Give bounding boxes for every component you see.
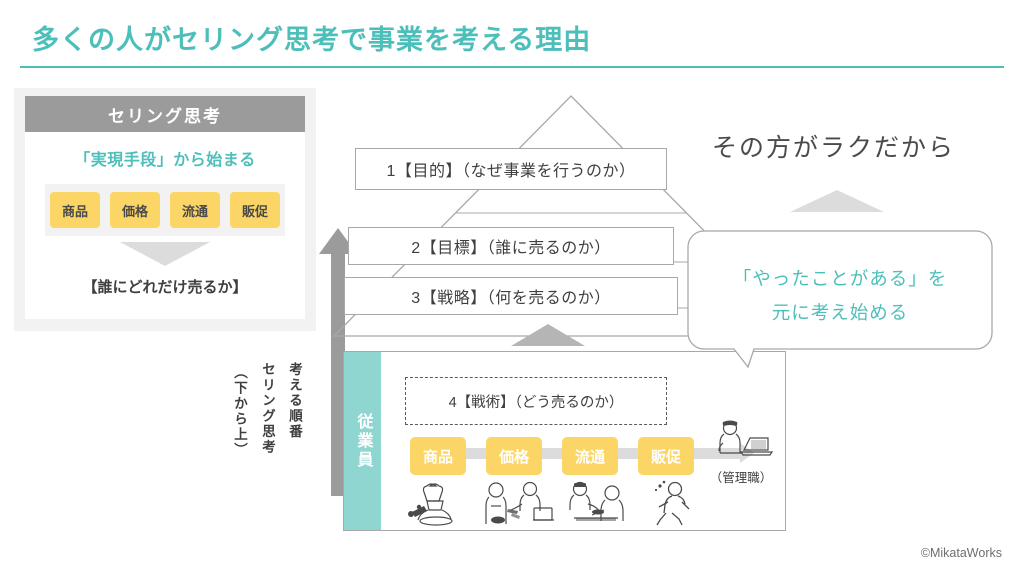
employee-band: 従業員 — [344, 352, 381, 530]
chip-price: 価格 — [110, 192, 160, 228]
employee-band-label: 従業員 — [351, 413, 375, 470]
selling-4p-chip-row: 商品 価格 流通 販促 — [45, 184, 285, 236]
selling-thinking-header: セリング思考 — [25, 96, 305, 132]
pyramid-level-strategy: 3【戦略】（何を売るのか） — [344, 277, 678, 315]
manager-group: （管理職） — [702, 420, 780, 486]
pyramid-level-goal: 2【目標】（誰に売るのか） — [348, 227, 674, 265]
up-arrow-icon — [790, 190, 884, 212]
employee-tactics-box: 従業員 4【戦術】（どう売るのか） 商品 価格 流通 販促 — [343, 351, 786, 531]
pyramid-level-purpose: 1【目的】（なぜ事業を行うのか） — [355, 148, 667, 190]
chip-product: 商品 — [410, 437, 466, 475]
speech-line-2: 元に考え始める — [706, 296, 974, 330]
side-label-selling-thinking: セリング思考 — [257, 362, 277, 455]
side-label-direction: （下から上） — [229, 365, 249, 458]
speech-bubble-text: 「やったことがある」を 元に考え始める — [706, 262, 974, 330]
side-label-thinking-order: 考える順番 — [284, 362, 304, 440]
cashier-customer-icon — [484, 480, 556, 526]
up-arrow-icon — [511, 324, 585, 346]
chip-promotion: 販促 — [638, 437, 694, 475]
chip-product: 商品 — [50, 192, 100, 228]
chip-place: 流通 — [170, 192, 220, 228]
title-divider — [20, 66, 1004, 68]
server-customer-icon — [560, 480, 632, 526]
down-arrow-icon — [120, 242, 210, 266]
selling-thinking-subtitle: 「実現手段」から始まる — [25, 146, 305, 170]
selling-thinking-panel: セリング思考 「実現手段」から始まる 商品 価格 流通 販促 【誰にどれだけ売る… — [14, 88, 316, 331]
selling-thinking-panel-inner: セリング思考 「実現手段」から始まる 商品 価格 流通 販促 【誰にどれだけ売る… — [25, 96, 305, 319]
reason-text: その方がラクだから — [712, 128, 955, 164]
speech-line-1: 「やったことがある」を — [706, 262, 974, 296]
running-person-icon — [644, 480, 698, 526]
chip-place: 流通 — [562, 437, 618, 475]
chef-cooking-icon — [406, 480, 466, 526]
selling-thinking-conclusion: 【誰にどれだけ売るか】 — [25, 276, 305, 297]
copyright-notice: ©MikataWorks — [921, 546, 1002, 560]
chip-price: 価格 — [486, 437, 542, 475]
chip-promotion: 販促 — [230, 192, 280, 228]
manager-label: （管理職） — [702, 467, 780, 486]
pyramid-level-tactics: 4【戦術】（どう売るのか） — [405, 377, 667, 425]
slide-canvas: 多くの人がセリング思考で事業を考える理由 セリング思考 「実現手段」から始まる … — [0, 0, 1024, 572]
person-laptop-icon — [708, 420, 774, 460]
page-title: 多くの人がセリング思考で事業を考える理由 — [32, 18, 591, 57]
